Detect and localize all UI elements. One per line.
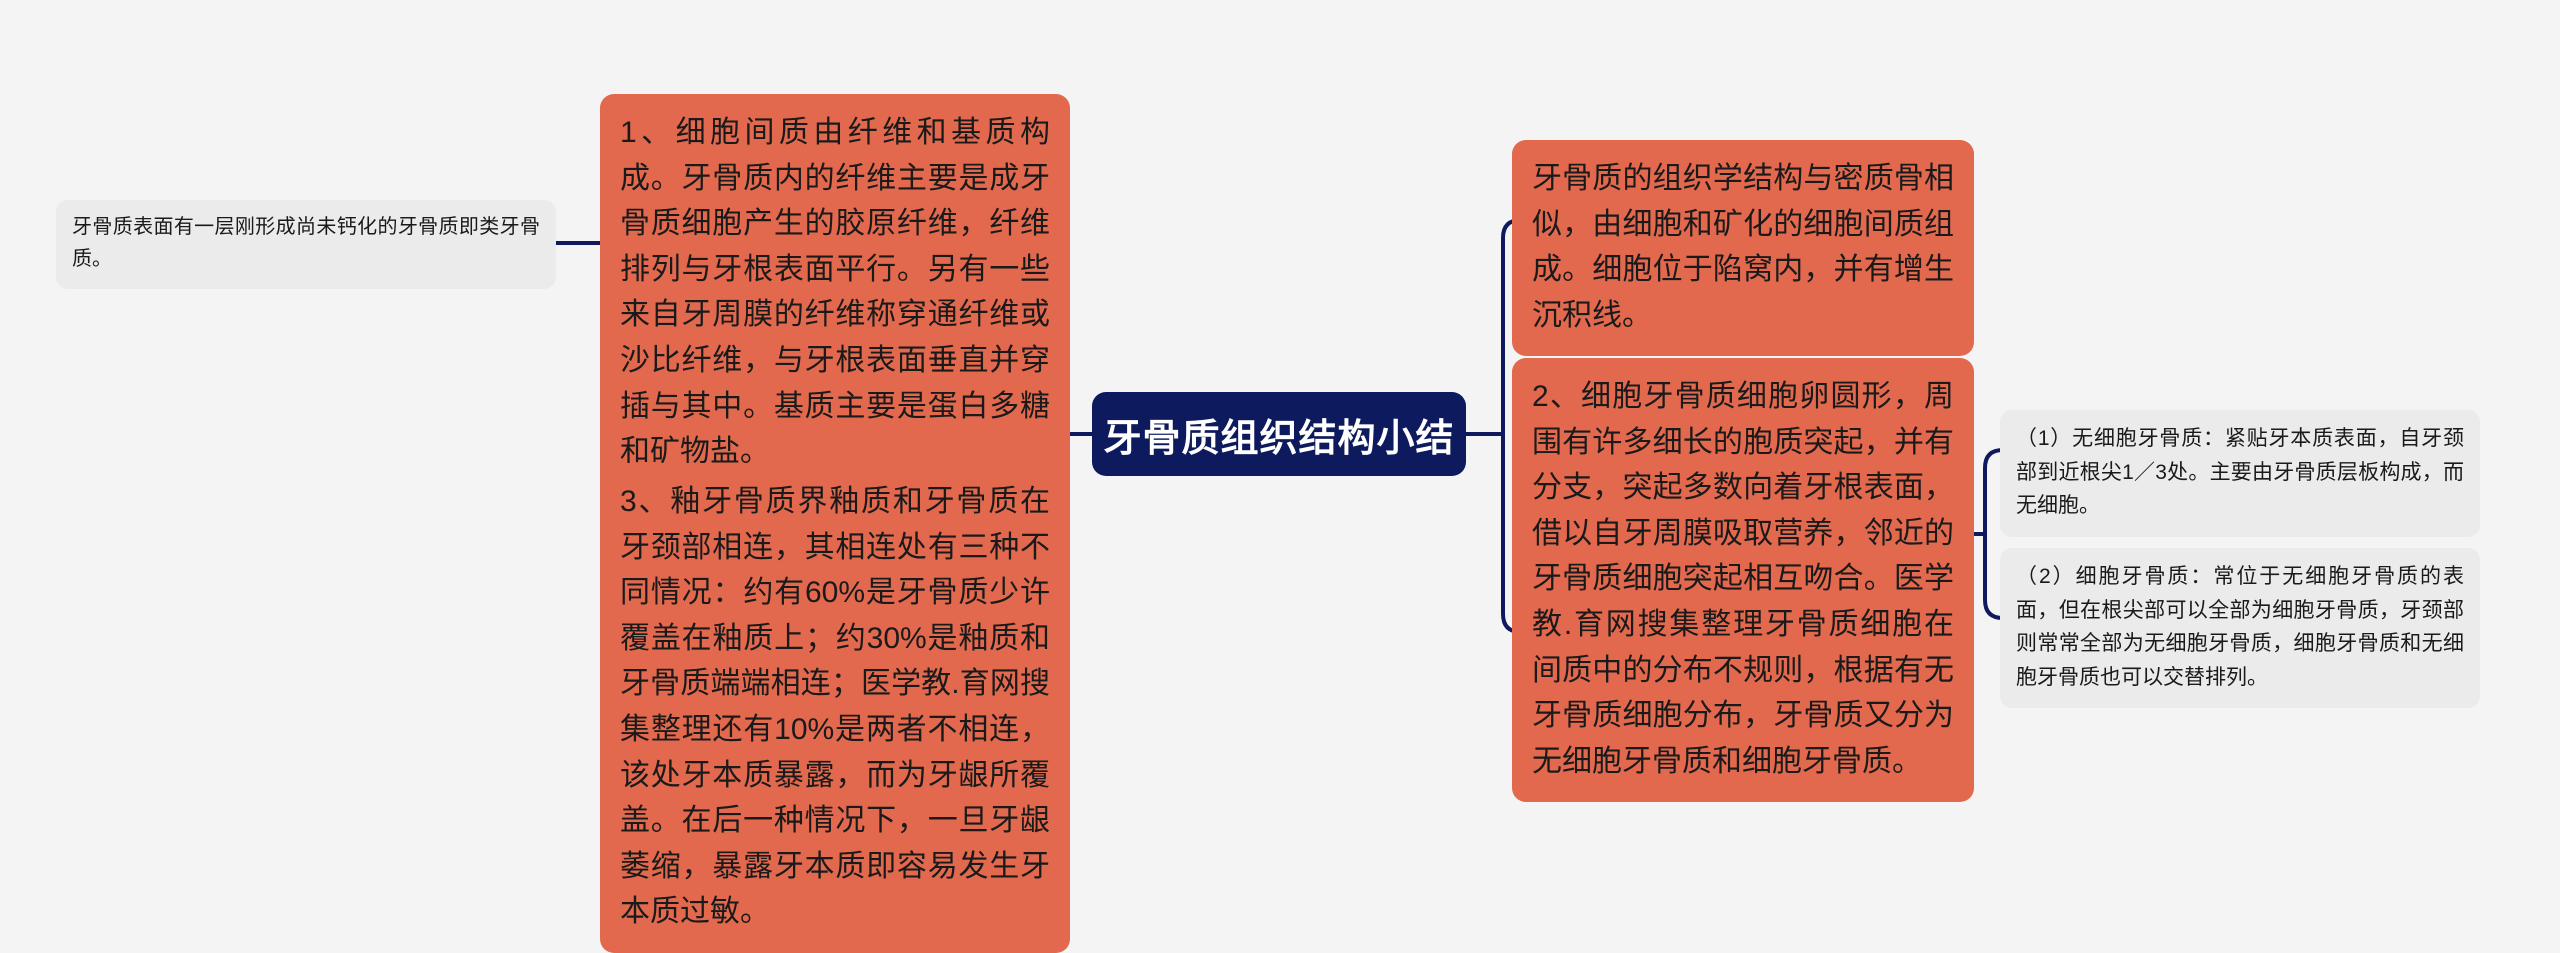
branch-node-text: 牙骨质的组织学结构与密质骨相似，由细胞和矿化的细胞间质组成。细胞位于陷窝内，并有… bbox=[1532, 162, 1954, 332]
branch-node-text: 2、细胞牙骨质细胞卵圆形，周围有许多细长的胞质突起，并有分支，突起多数向着牙根表… bbox=[1532, 380, 1954, 778]
branch-node-text: 1、细胞间质由纤维和基质构成。牙骨质内的纤维主要是成牙骨质细胞产生的胶原纤维，纤… bbox=[620, 116, 1050, 468]
mindmap-canvas: 牙骨质表面有一层刚形成尚未钙化的牙骨质即类牙骨质。 1、细胞间质由纤维和基质构成… bbox=[0, 0, 2560, 885]
branch-node-intro-histology[interactable]: 牙骨质的组织学结构与密质骨相似，由细胞和矿化的细胞间质组成。细胞位于陷窝内，并有… bbox=[1512, 140, 1974, 356]
leaf-node-text: 牙骨质表面有一层刚形成尚未钙化的牙骨质即类牙骨质。 bbox=[72, 216, 540, 270]
root-node-cementum-summary[interactable]: 牙骨质组织结构小结 bbox=[1092, 392, 1466, 476]
branch-node-1-intercellular-substance[interactable]: 1、细胞间质由纤维和基质构成。牙骨质内的纤维主要是成牙骨质细胞产生的胶原纤维，纤… bbox=[600, 94, 1070, 493]
leaf-node-cellular-cementum[interactable]: （2）细胞牙骨质：常位于无细胞牙骨质的表面，但在根尖部可以全部为细胞牙骨质，牙颈… bbox=[2000, 548, 2480, 708]
leaf-node-class-cementum[interactable]: 牙骨质表面有一层刚形成尚未钙化的牙骨质即类牙骨质。 bbox=[56, 200, 556, 289]
leaf-node-acellular-cementum[interactable]: （1）无细胞牙骨质：紧贴牙本质表面，自牙颈部到近根尖1／3处。主要由牙骨质层板构… bbox=[2000, 410, 2480, 537]
root-node-label: 牙骨质组织结构小结 bbox=[1103, 407, 1454, 462]
leaf-node-text: （2）细胞牙骨质：常位于无细胞牙骨质的表面，但在根尖部可以全部为细胞牙骨质，牙颈… bbox=[2016, 565, 2464, 689]
leaf-node-text: （1）无细胞牙骨质：紧贴牙本质表面，自牙颈部到近根尖1／3处。主要由牙骨质层板构… bbox=[2016, 427, 2464, 517]
branch-node-3-cementoenamel-junction[interactable]: 3、釉牙骨质界釉质和牙骨质在牙颈部相连，其相连处有三种不同情况：约有60%是牙骨… bbox=[600, 463, 1070, 953]
branch-node-text: 3、釉牙骨质界釉质和牙骨质在牙颈部相连，其相连处有三种不同情况：约有60%是牙骨… bbox=[620, 485, 1050, 928]
branch-node-2-cementocytes[interactable]: 2、细胞牙骨质细胞卵圆形，周围有许多细长的胞质突起，并有分支，突起多数向着牙根表… bbox=[1512, 358, 1974, 802]
